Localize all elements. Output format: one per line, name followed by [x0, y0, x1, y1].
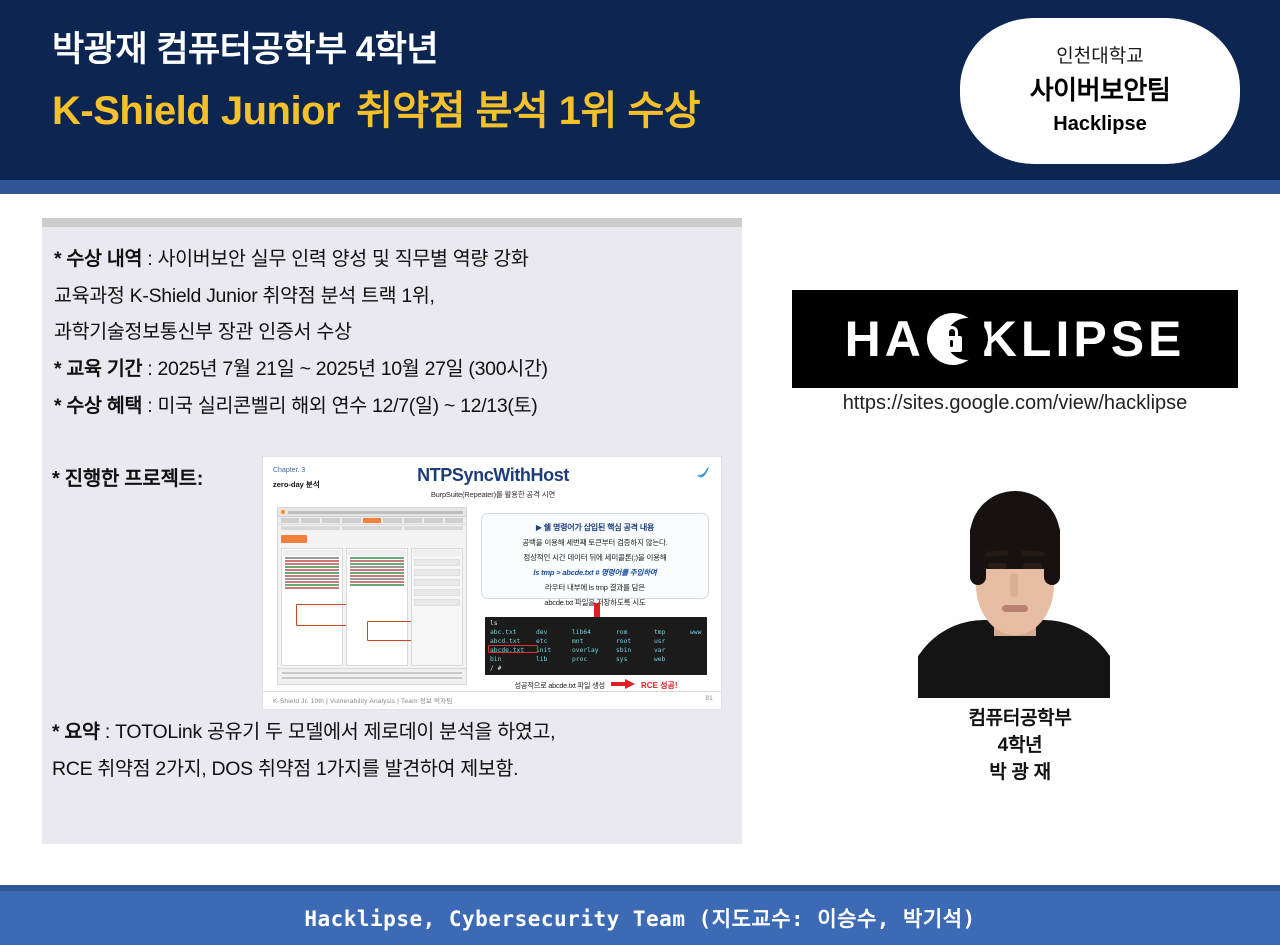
slide-footer: K-Shield Jr. 10th | Vulnerability Analys…	[263, 691, 722, 705]
burp-subtab	[342, 526, 401, 530]
inspector-section	[414, 599, 460, 606]
burp-tab	[445, 518, 463, 523]
burp-tab	[383, 518, 401, 523]
burp-menubar	[288, 511, 463, 514]
header-title-block: 박광재 컴퓨터공학부 4학년 K-Shield Junior취약점 분석 1위 …	[52, 28, 932, 136]
bullet-star: *	[52, 721, 59, 743]
lock-keyhole	[950, 340, 953, 347]
photo-mouth	[1002, 605, 1028, 612]
slide-page-number: 81	[705, 695, 713, 705]
inspector-section	[414, 589, 460, 596]
detail-separator: :	[147, 395, 152, 417]
footer-text: Hacklipse, Cybersecurity Team (지도교수: 이승수…	[304, 903, 975, 933]
photo-eye-left	[988, 563, 1007, 569]
terminal-cell: tmp	[654, 629, 690, 638]
code-line	[350, 557, 404, 559]
terminal-row: bin lib proc sys web	[490, 656, 702, 665]
inspector-section	[414, 569, 460, 576]
attack-result-label: RCE 성공!	[641, 680, 678, 691]
header-accent-stripe	[0, 180, 1280, 194]
code-line	[350, 566, 404, 568]
summary-value: RCE 취약점 2가지, DOS 취약점 1가지를 발견하여 제보함.	[52, 758, 518, 780]
detail-separator: :	[147, 358, 152, 380]
explanation-line: 정상적인 시간 데이터 뒤에 세미콜론(;)을 이용해	[482, 552, 708, 563]
slide-subtitle: BurpSuite(Repeater)를 활용한 공격 시연	[263, 489, 722, 500]
code-line	[285, 575, 339, 577]
badge-team-name-en: Hacklipse	[1053, 110, 1146, 139]
attack-explanation-card: ▶ 쉘 명령어가 삽입된 핵심 공격 내용 공백을 이용해 세번째 토큰부터 검…	[481, 513, 709, 599]
bird-icon	[695, 465, 711, 481]
burp-subtab	[404, 526, 463, 530]
summary-block: * 요약 : TOTOLink 공유기 두 모델에서 제로데이 분석을 하였고,…	[52, 718, 712, 784]
terminal-prompt: / #	[490, 665, 501, 674]
code-line	[285, 566, 339, 568]
terminal-cell: usr	[654, 638, 690, 647]
code-line	[350, 563, 404, 565]
burp-tab	[404, 518, 422, 523]
detail-value: 과학기술정보통신부 장관 인증서 수상	[54, 321, 352, 343]
explanation-line: 라우터 내부에 ls tmp 결과를 담은	[482, 582, 708, 593]
summary-label: 요약	[64, 721, 99, 743]
code-line	[350, 575, 404, 577]
status-line	[282, 672, 462, 674]
burp-titlebar	[278, 508, 466, 517]
burp-response-pane	[346, 548, 408, 666]
code-line	[285, 557, 339, 559]
terminal-cell: dev	[536, 629, 572, 638]
burp-pane-header	[348, 550, 406, 556]
inspector-section	[414, 559, 460, 566]
portrait-photo	[918, 473, 1110, 698]
code-line	[285, 581, 339, 583]
terminal-cell: overlay	[572, 647, 616, 656]
detail-value: 사이버보안 실무 인력 양성 및 직무별 역량 강화	[157, 248, 528, 270]
terminal-cell: lib64	[572, 629, 616, 638]
inspector-section	[414, 579, 460, 586]
terminal-cell: sys	[616, 656, 654, 665]
burp-tab	[301, 518, 319, 523]
bullet-star: *	[54, 248, 61, 270]
terminal-cell: mnt	[572, 638, 616, 647]
burp-tab	[424, 518, 442, 523]
summary-row: RCE 취약점 2가지, DOS 취약점 1가지를 발견하여 제보함.	[52, 755, 712, 785]
detail-row: 교육과정 K-Shield Junior 취약점 분석 트랙 1위,	[54, 282, 726, 312]
terminal-cell: bin	[490, 656, 536, 665]
explanation-heading: ▶ 쉘 명령어가 삽입된 핵심 공격 내용	[482, 522, 708, 533]
terminal-cell: var	[654, 647, 690, 656]
detail-value: 미국 실리콘벨리 해외 연수 12/7(일) ~ 12/13(토)	[157, 395, 537, 417]
photo-eye-right	[1023, 563, 1042, 569]
burp-status-bar	[278, 668, 466, 684]
detail-row: * 수상 내역 : 사이버보안 실무 인력 양성 및 직무별 역량 강화	[54, 245, 726, 275]
photo-nose	[1010, 573, 1018, 597]
code-line	[285, 572, 339, 574]
code-line	[350, 560, 404, 562]
detail-separator: :	[147, 248, 152, 270]
code-line	[350, 569, 404, 571]
code-line	[285, 563, 339, 565]
terminal-cell: proc	[572, 656, 616, 665]
terminal-cell: sbin	[616, 647, 654, 656]
photo-hair-fringe	[978, 507, 1052, 541]
burp-pane-header	[413, 550, 461, 556]
terminal-command-row: ls	[490, 620, 702, 629]
burp-send-button	[281, 535, 307, 543]
burp-tab-active	[363, 518, 381, 523]
detail-row: * 교육 기간 : 2025년 7월 21일 ~ 2025년 10월 27일 (…	[54, 355, 726, 385]
terminal-cell: www	[690, 629, 701, 638]
terminal-prompt-row: / #	[490, 665, 702, 674]
burp-subtab	[281, 526, 340, 530]
highlight-box	[296, 604, 352, 626]
terminal-cell: abc.txt	[490, 629, 536, 638]
explanation-line: 공백을 이용해 세번째 토큰부터 검증하지 않는다.	[482, 537, 708, 548]
page-title-program: K-Shield Junior	[52, 89, 340, 133]
burp-tab	[281, 518, 299, 523]
terminal-cell: rom	[616, 629, 654, 638]
terminal-cell: root	[616, 638, 654, 647]
terminal-row: abc.txt dev lib64 rom tmp www	[490, 629, 702, 638]
burp-tab	[342, 518, 360, 523]
burp-pane-header	[283, 550, 341, 556]
code-line	[285, 560, 339, 562]
burp-request-pane	[281, 548, 343, 666]
code-line	[285, 569, 339, 571]
hacklipse-site-url[interactable]: https://sites.google.com/view/hacklipse	[792, 392, 1238, 415]
team-badge: 인천대학교 사이버보안팀 Hacklipse	[960, 18, 1240, 164]
eclipse-lock-icon	[927, 313, 979, 365]
detail-label: 수상 내역	[66, 248, 142, 270]
badge-university: 인천대학교	[1056, 43, 1143, 72]
project-slide-thumbnail[interactable]: Chapter. 3 zero-day 분석 NTPSyncWithHost B…	[262, 456, 722, 710]
status-line	[282, 677, 462, 679]
bullet-star: *	[54, 395, 61, 417]
slide-title: NTPSyncWithHost	[263, 465, 722, 486]
person-department: 컴퓨터공학부	[880, 706, 1160, 733]
terminal-caption: 성공적으로 abcde.txt 파일 생성	[515, 681, 605, 691]
terminal-cell: init	[536, 647, 572, 656]
highlight-box	[488, 645, 538, 654]
bullet-star: *	[54, 358, 61, 380]
person-year: 4학년	[880, 733, 1160, 760]
code-line	[285, 587, 339, 589]
code-line	[350, 581, 404, 583]
burp-subtab-strip	[278, 525, 466, 532]
terminal-cell: web	[654, 656, 690, 665]
person-caption: 컴퓨터공학부 4학년 박 광 재	[880, 706, 1160, 787]
summary-value: TOTOLink 공유기 두 모델에서 제로데이 분석을 하였고,	[115, 721, 555, 743]
footer-bar: Hacklipse, Cybersecurity Team (지도교수: 이승수…	[0, 891, 1280, 945]
code-line	[350, 572, 404, 574]
explanation-line: ls tmp > abcde.txt # 명령어를 주입하여	[482, 567, 708, 578]
burp-logo-icon	[281, 510, 285, 514]
details-list: * 수상 내역 : 사이버보안 실무 인력 양성 및 직무별 역량 강화 교육과…	[42, 227, 742, 421]
page-title-line2: K-Shield Junior취약점 분석 1위 수상	[52, 86, 932, 136]
person-name: 박 광 재	[880, 760, 1160, 787]
detail-row: 과학기술정보통신부 장관 인증서 수상	[54, 318, 726, 348]
poster-page: 박광재 컴퓨터공학부 4학년 K-Shield Junior취약점 분석 1위 …	[0, 0, 1280, 945]
detail-value: 교육과정 K-Shield Junior 취약점 분석 트랙 1위,	[54, 285, 435, 307]
page-title-award: 취약점 분석 1위 수상	[356, 89, 700, 133]
lock-shackle	[946, 326, 958, 338]
detail-value: 2025년 7월 21일 ~ 2025년 10월 27일 (300시간)	[157, 358, 547, 380]
hacklipse-logo: HA KLIPSE	[792, 290, 1238, 388]
detail-label: 수상 혜택	[66, 395, 142, 417]
burpsuite-screenshot	[277, 507, 467, 685]
logo-text-after: KLIPSE	[981, 314, 1186, 364]
summary-separator: :	[105, 721, 110, 743]
code-line	[350, 578, 404, 580]
badge-team-name: 사이버보안팀	[1030, 72, 1171, 110]
slide-footer-left: K-Shield Jr. 10th | Vulnerability Analys…	[273, 695, 453, 705]
detail-label: 교육 기간	[66, 358, 142, 380]
code-line	[285, 578, 339, 580]
summary-row: * 요약 : TOTOLink 공유기 두 모델에서 제로데이 분석을 하였고,	[52, 718, 712, 748]
project-label: * 진행한 프로젝트:	[52, 462, 203, 491]
router-terminal-output: ls abc.txt dev lib64 rom tmp www abcd.tx…	[485, 617, 707, 675]
burp-inspector-pane	[411, 548, 463, 666]
code-line	[285, 584, 339, 586]
logo-text-before: HA	[845, 314, 925, 364]
injected-command: ls tmp > abcde.txt # 명령어를 주입하여	[533, 568, 656, 577]
burp-tab	[322, 518, 340, 523]
detail-row: * 수상 혜택 : 미국 실리콘벨리 해외 연수 12/7(일) ~ 12/13…	[54, 392, 726, 422]
terminal-command: ls	[490, 620, 536, 629]
terminal-cell: lib	[536, 656, 572, 665]
page-title-line1: 박광재 컴퓨터공학부 4학년	[52, 28, 932, 72]
burp-panes	[281, 548, 463, 666]
hacklipse-logo-text: HA KLIPSE	[845, 313, 1186, 365]
code-line	[350, 584, 404, 586]
burp-tab-strip	[278, 517, 466, 525]
terminal-cell: etc	[536, 638, 572, 647]
